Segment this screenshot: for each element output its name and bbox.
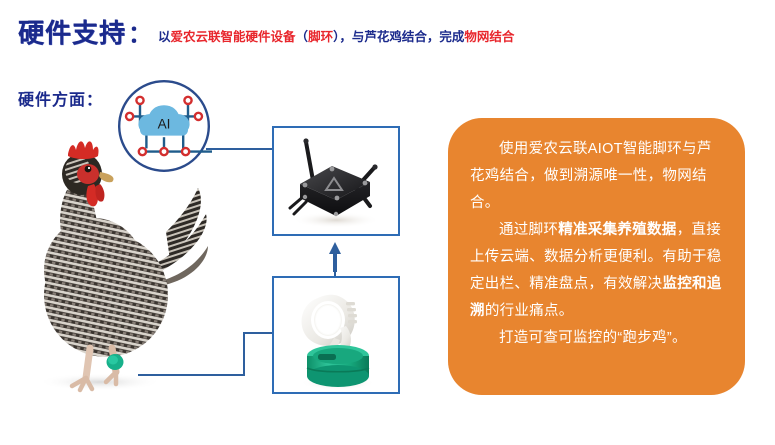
- panel-emphasis: 精准采集养殖数据: [558, 222, 676, 238]
- subtitle-run: ），与芦花鸡结合，完成: [333, 30, 464, 44]
- panel-text: 打造可查可监控的“跑步鸡”。: [499, 330, 687, 346]
- panel-paragraph-3: 打造可查可监控的“跑步鸡”。: [470, 325, 723, 352]
- iot-gateway-device-photo: [272, 126, 400, 236]
- subtitle-run: 以: [158, 30, 171, 44]
- page-title: 硬件支持: [18, 20, 126, 46]
- connector-leg-h2: [243, 332, 272, 334]
- header-subtitle: 以爱农云联智能硬件设备（脚环），与芦花鸡结合，完成物网结合: [158, 31, 514, 44]
- connector-ai-to-device: [206, 148, 272, 150]
- subtitle-run: 脚环: [308, 30, 333, 44]
- header: 硬件支持 ： 以爱农云联智能硬件设备（脚环），与芦花鸡结合，完成物网结合: [18, 20, 514, 47]
- panel-text: 使用爱农云联AIOT智能脚环与芦花鸡结合，做到溯源唯一性，物网结合。: [470, 141, 712, 211]
- section-label: 硬件方面：: [18, 86, 103, 110]
- barred-rock-chicken-photo: [20, 110, 210, 395]
- subtitle-run: （: [296, 30, 309, 44]
- upward-arrow: [328, 242, 342, 272]
- chicken-leg-ring: [107, 354, 124, 370]
- slide-canvas: 硬件支持 ： 以爱农云联智能硬件设备（脚环），与芦花鸡结合，完成物网结合 硬件方…: [0, 0, 775, 445]
- panel-paragraph-1: 使用爱农云联AIOT智能脚环与芦花鸡结合，做到溯源唯一性，物网结合。: [470, 136, 723, 217]
- subtitle-run: 爱农云联智能硬件设备: [171, 30, 296, 44]
- panel-paragraph-2: 通过脚环精准采集养殖数据，直接上传云端、数据分析更便利。有助于稳定出栏、精准盘点…: [470, 217, 723, 325]
- panel-text: 的行业痛点。: [485, 303, 574, 319]
- subtitle-run: 物网结合: [464, 30, 514, 44]
- smart-leg-ring-photo: [272, 276, 400, 394]
- connector-leg-v: [243, 332, 245, 376]
- description-panel: 使用爱农云联AIOT智能脚环与芦花鸡结合，做到溯源唯一性，物网结合。 通过脚环精…: [448, 118, 745, 395]
- connector-leg-h1: [138, 374, 244, 376]
- panel-text: 通过脚环: [499, 222, 558, 238]
- title-colon: ：: [128, 23, 152, 47]
